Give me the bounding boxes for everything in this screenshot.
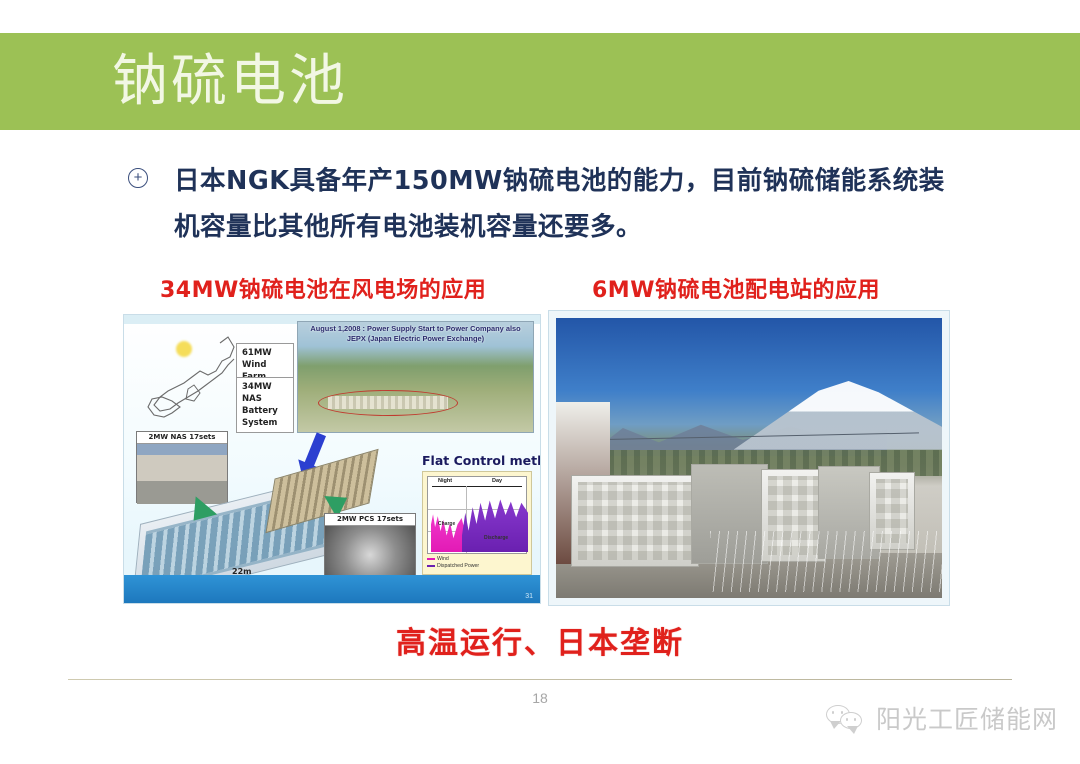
highlight-ellipse	[318, 390, 458, 416]
nas-container-photo: 2MW NAS 17sets	[136, 431, 228, 503]
callout-nas-battery: 34MW NAS Battery System	[236, 377, 294, 433]
plot-legend: Wind Dispatched Power	[427, 556, 527, 570]
circled-plus-bullet-icon	[128, 168, 148, 188]
aerial-wind-farm-photo: August 1,2008 : Power Supply Start to Po…	[297, 321, 534, 433]
substation-photo	[556, 318, 942, 598]
plot-tag-discharge: Discharge	[484, 535, 508, 541]
map-highlight-dot	[176, 341, 192, 357]
figure-right-image	[548, 310, 950, 606]
plot-series-dispatched	[462, 496, 528, 552]
left-figure-footer-band: 31	[124, 575, 540, 603]
figure-right-heading: 6MW钠硫电池配电站的应用	[592, 272, 880, 304]
conclusion-text: 高温运行、日本垄断	[0, 618, 1080, 662]
nas-photo-label: 2MW NAS 17sets	[137, 432, 227, 444]
plot-tag-charge: Charge	[438, 521, 455, 527]
figure-left-heading: 34MW钠硫电池在风电场的应用	[160, 272, 486, 304]
watermark-text: 阳光工匠储能网	[876, 700, 1058, 736]
bullet-row: 日本NGK具备年产150MW钠硫电池的能力，目前钠硫储能系统装机容量比其他所有电…	[128, 158, 958, 250]
plot-series-wind	[431, 506, 465, 552]
left-figure-canvas: 61MW Wind Farm 34MW NAS Battery System A…	[124, 315, 540, 603]
plot-top-axis	[432, 486, 522, 487]
source-slide-number: 31	[525, 593, 533, 600]
bullet-text: 日本NGK具备年产150MW钠硫电池的能力，目前钠硫储能系统装机容量比其他所有电…	[174, 158, 958, 250]
blue-arrow-icon	[304, 432, 326, 467]
wechat-bubbles-icon	[826, 705, 866, 731]
mount-fuji	[734, 380, 942, 450]
fence-rails	[710, 531, 942, 593]
page-title: 钠硫电池	[112, 52, 348, 112]
footer-divider	[68, 679, 1012, 680]
flat-control-panel: Night Day Charge Discharge Wind Dispatch…	[422, 471, 532, 575]
legend-label-dispatched: Dispatched Power	[437, 563, 479, 569]
watermark: 阳光工匠储能网	[826, 700, 1058, 736]
nas-photo-body	[137, 444, 227, 504]
flat-control-plot: Night Day Charge Discharge	[427, 476, 527, 554]
battery-module-1	[571, 475, 698, 567]
plot-label-day: Day	[492, 478, 502, 484]
legend-swatch-dispatched	[427, 565, 435, 567]
legend-label-wind: Wind	[437, 556, 449, 562]
legend-swatch-wind	[427, 558, 435, 560]
slide-root: 钠硫电池 日本NGK具备年产150MW钠硫电池的能力，目前钠硫储能系统装机容量比…	[0, 0, 1080, 764]
flat-control-title: Flat Control method	[422, 453, 541, 468]
aerial-photo-caption: August 1,2008 : Power Supply Start to Po…	[298, 322, 533, 346]
pcs-photo-label: 2MW PCS 17sets	[325, 514, 415, 526]
wechat-bubble-front	[840, 712, 862, 729]
plot-label-night: Night	[438, 478, 452, 484]
figure-left-image: 61MW Wind Farm 34MW NAS Battery System A…	[123, 314, 541, 604]
